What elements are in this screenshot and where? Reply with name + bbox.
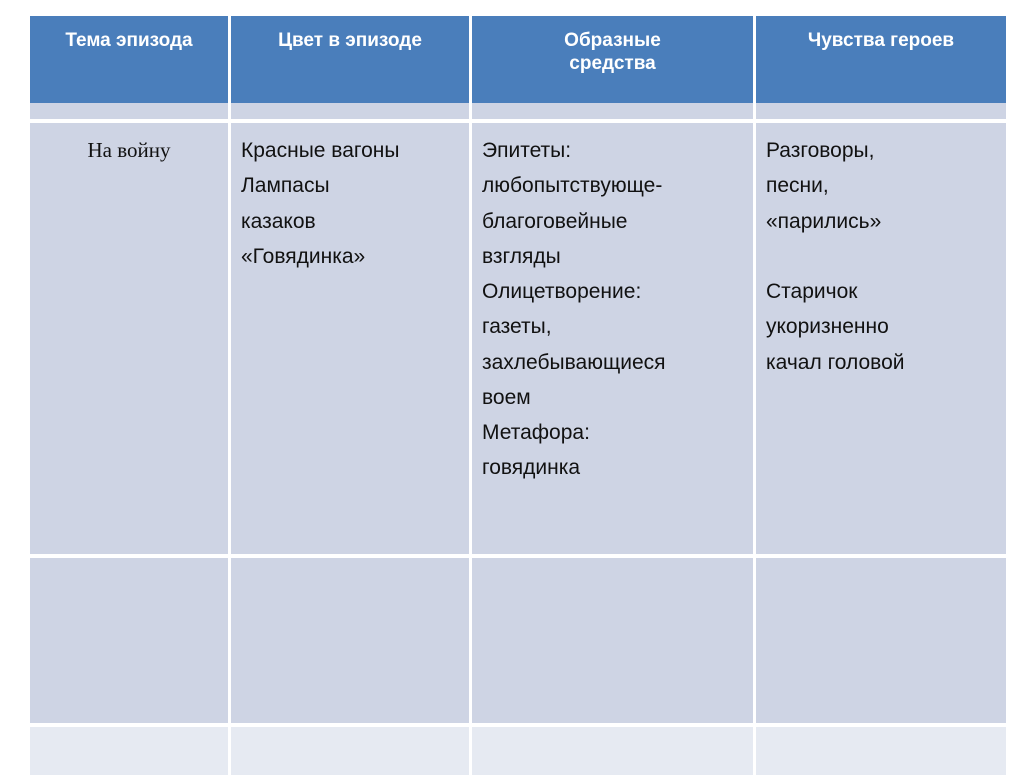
cell-line: воем — [482, 380, 743, 415]
table-header: Тема эпизода Цвет в эпизоде Образные сре… — [30, 16, 1006, 103]
column-header-devices: Образные средства — [472, 16, 756, 103]
column-header-devices-line2: средства — [569, 53, 655, 74]
cell-devices — [472, 558, 756, 727]
cell-line: Лампасы — [241, 168, 459, 203]
table-body: На войну Красные вагоны Лампасы казаков … — [30, 103, 1006, 775]
cell-color-lines: Красные вагоны Лампасы казаков «Говядинк… — [241, 133, 459, 274]
table-header-row: Тема эпизода Цвет в эпизоде Образные сре… — [30, 16, 1006, 103]
cell-theme: На войну — [30, 123, 231, 558]
table-row — [30, 727, 1006, 775]
cell-color — [231, 558, 472, 727]
cell-devices — [472, 727, 756, 775]
cell-feelings-lines: Разговоры, песни, «парились» Старичок ук… — [766, 133, 996, 380]
cell-feelings: Разговоры, песни, «парились» Старичок ук… — [756, 123, 1006, 558]
cell-feelings — [756, 727, 1006, 775]
cell-line: Разговоры, — [766, 133, 996, 168]
cell-color: Красные вагоны Лампасы казаков «Говядинк… — [231, 123, 472, 558]
cell-line: укоризненно — [766, 309, 996, 344]
cell-line: Олицетворение: — [482, 274, 743, 309]
cell-theme — [30, 558, 231, 727]
episode-analysis-table: Тема эпизода Цвет в эпизоде Образные сре… — [30, 16, 1006, 775]
table-row: На войну Красные вагоны Лампасы казаков … — [30, 123, 1006, 558]
column-header-devices-line1: Образные — [564, 30, 661, 51]
column-header-theme: Тема эпизода — [30, 16, 231, 103]
cell-line: захлебывающиеся — [482, 345, 743, 380]
cell-line: говядинка — [482, 450, 743, 485]
cell-line-blank — [766, 239, 996, 274]
table-row — [30, 558, 1006, 727]
cell-line: взгляды — [482, 239, 743, 274]
cell-feelings — [756, 558, 1006, 727]
cell-line: Старичок — [766, 274, 996, 309]
cell-line: «Говядинка» — [241, 239, 459, 274]
column-header-feelings: Чувства героев — [756, 16, 1006, 103]
cell-color — [231, 727, 472, 775]
cell-line: Метафора: — [482, 415, 743, 450]
slide-canvas: Тема эпизода Цвет в эпизоде Образные сре… — [0, 0, 1024, 767]
cell-theme — [30, 727, 231, 775]
cell-line: любопытствующе- — [482, 168, 743, 203]
cell-devices-lines: Эпитеты: любопытствующе- благоговейные в… — [482, 133, 743, 486]
cell-devices: Эпитеты: любопытствующе- благоговейные в… — [472, 123, 756, 558]
cell-line: Эпитеты: — [482, 133, 743, 168]
cell-line: качал головой — [766, 345, 996, 380]
column-header-color: Цвет в эпизоде — [231, 16, 472, 103]
header-body-gap — [30, 103, 1006, 123]
cell-line: Красные вагоны — [241, 133, 459, 168]
cell-line: благоговейные — [482, 204, 743, 239]
cell-line: казаков — [241, 204, 459, 239]
cell-line: газеты, — [482, 309, 743, 344]
cell-line: песни, — [766, 168, 996, 203]
cell-line: «парились» — [766, 204, 996, 239]
